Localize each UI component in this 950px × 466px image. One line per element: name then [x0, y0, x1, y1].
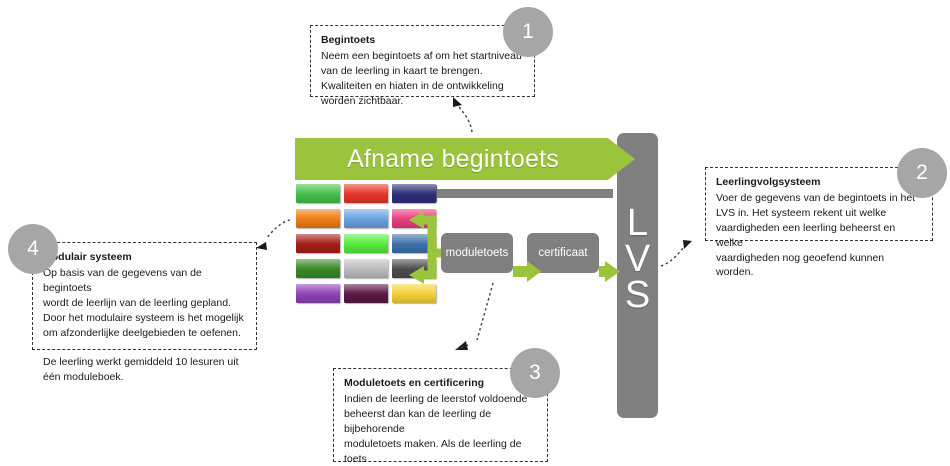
block-cell — [392, 284, 436, 303]
block-cell — [296, 209, 340, 228]
callout-number-4-label: 4 — [27, 237, 39, 261]
lvs-letter-v: V — [625, 241, 650, 277]
block-cell — [296, 259, 340, 278]
callout-number-4: 4 — [8, 224, 58, 274]
callout-box-1: Begintoets Neem een begintoets af om het… — [310, 25, 535, 97]
callout-box-4: Modulair systeem Op basis van de gegeven… — [32, 242, 257, 350]
block-cell — [392, 259, 436, 278]
callout-1-title: Begintoets — [321, 33, 524, 48]
block-cell — [344, 209, 388, 228]
callout-4-title: Modulair systeem — [43, 250, 246, 265]
afname-begintoets-banner: Afname begintoets — [295, 138, 635, 180]
callout-2-title: Leerlingvolgsysteem — [716, 175, 922, 190]
callout-3-title: Moduletoets en certificering — [344, 376, 537, 391]
block-cell — [344, 184, 388, 203]
block-cell — [296, 284, 340, 303]
block-row — [296, 184, 436, 203]
certificaat-box: certificaat — [527, 233, 599, 273]
lvs-bar: L V S — [617, 133, 658, 418]
moduletoets-box: moduletoets — [441, 233, 513, 273]
callout-1-body: Neem een begintoets af om het startnivea… — [321, 49, 524, 109]
callout-number-2-label: 2 — [916, 161, 928, 185]
leader-line-callout-3 — [455, 283, 493, 350]
callout-3-body: Indien de leerling de leerstof voldoende… — [344, 392, 537, 466]
diagram-canvas: Afname begintoets L V S — [0, 0, 950, 466]
block-cell — [344, 234, 388, 253]
callout-number-2: 2 — [897, 148, 947, 198]
block-cell — [296, 184, 340, 203]
block-cell — [344, 284, 388, 303]
block-row — [296, 234, 436, 253]
banner-label: Afname begintoets — [347, 145, 583, 174]
leader-line-callout-2 — [661, 240, 692, 266]
lvs-to-blocks-arrow — [419, 185, 613, 202]
block-row — [296, 259, 436, 278]
callout-number-3-label: 3 — [529, 361, 541, 385]
moduletoets-label: moduletoets — [446, 247, 509, 259]
callout-number-1-label: 1 — [522, 20, 534, 44]
lvs-letter-s: S — [625, 277, 650, 313]
callout-4-body: Op basis van de gegevens van de begintoe… — [43, 266, 246, 385]
block-cell — [392, 209, 436, 228]
block-cell — [392, 234, 436, 253]
block-cell — [296, 234, 340, 253]
certificaat-label: certificaat — [538, 247, 587, 259]
callout-number-1: 1 — [503, 7, 553, 57]
leader-line-callout-4 — [256, 220, 290, 250]
block-cell — [392, 184, 436, 203]
block-cell — [344, 259, 388, 278]
block-row — [296, 209, 436, 228]
lvs-letter-l: L — [627, 205, 648, 241]
callout-2-body: Voer de gegevens van de begintoets in he… — [716, 191, 922, 280]
callout-number-3: 3 — [510, 348, 560, 398]
block-row — [296, 284, 436, 303]
module-block-grid — [296, 184, 436, 309]
